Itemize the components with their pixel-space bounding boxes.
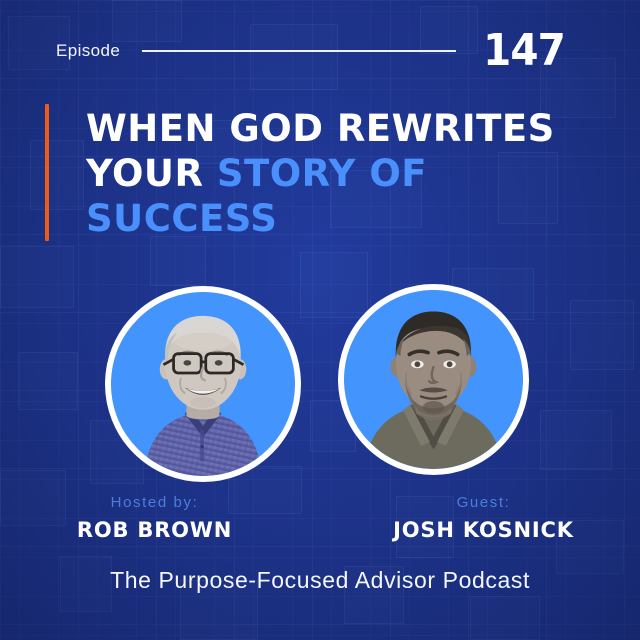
guest-name: JOSH KOSNICK <box>337 518 630 542</box>
episode-number: 147 <box>483 29 565 73</box>
guest-avatar <box>338 284 529 475</box>
title-accent-bar <box>45 104 49 241</box>
host-avatar <box>105 286 301 482</box>
page-title: WHEN GOD REWRITES YOUR STORY OF SUCCESS <box>86 104 555 241</box>
guest-role-label: Guest: <box>337 494 630 511</box>
podcast-name: The Purpose-Focused Advisor Podcast <box>0 567 640 594</box>
title-line-2-highlight: STORY OF <box>217 152 427 195</box>
episode-header: Episode 147 <box>56 30 640 72</box>
background-vignette <box>0 0 640 640</box>
title-line-3-highlight: SUCCESS <box>86 197 277 240</box>
title-line-2-white: YOUR <box>86 152 217 195</box>
guest-credit: Guest: JOSH KOSNICK <box>337 494 630 542</box>
episode-title-block: WHEN GOD REWRITES YOUR STORY OF SUCCESS <box>45 104 605 241</box>
host-name: ROB BROWN <box>8 518 301 542</box>
episode-label: Episode <box>56 41 120 61</box>
host-role-label: Hosted by: <box>8 494 301 511</box>
episode-divider-line <box>142 50 456 52</box>
title-line-1: WHEN GOD REWRITES <box>86 107 555 150</box>
podcast-episode-graphic: Episode 147 WHEN GOD REWRITES YOUR STORY… <box>0 0 640 640</box>
credits-row: Hosted by: ROB BROWN Guest: JOSH KOSNICK <box>0 494 640 542</box>
host-credit: Hosted by: ROB BROWN <box>8 494 301 542</box>
